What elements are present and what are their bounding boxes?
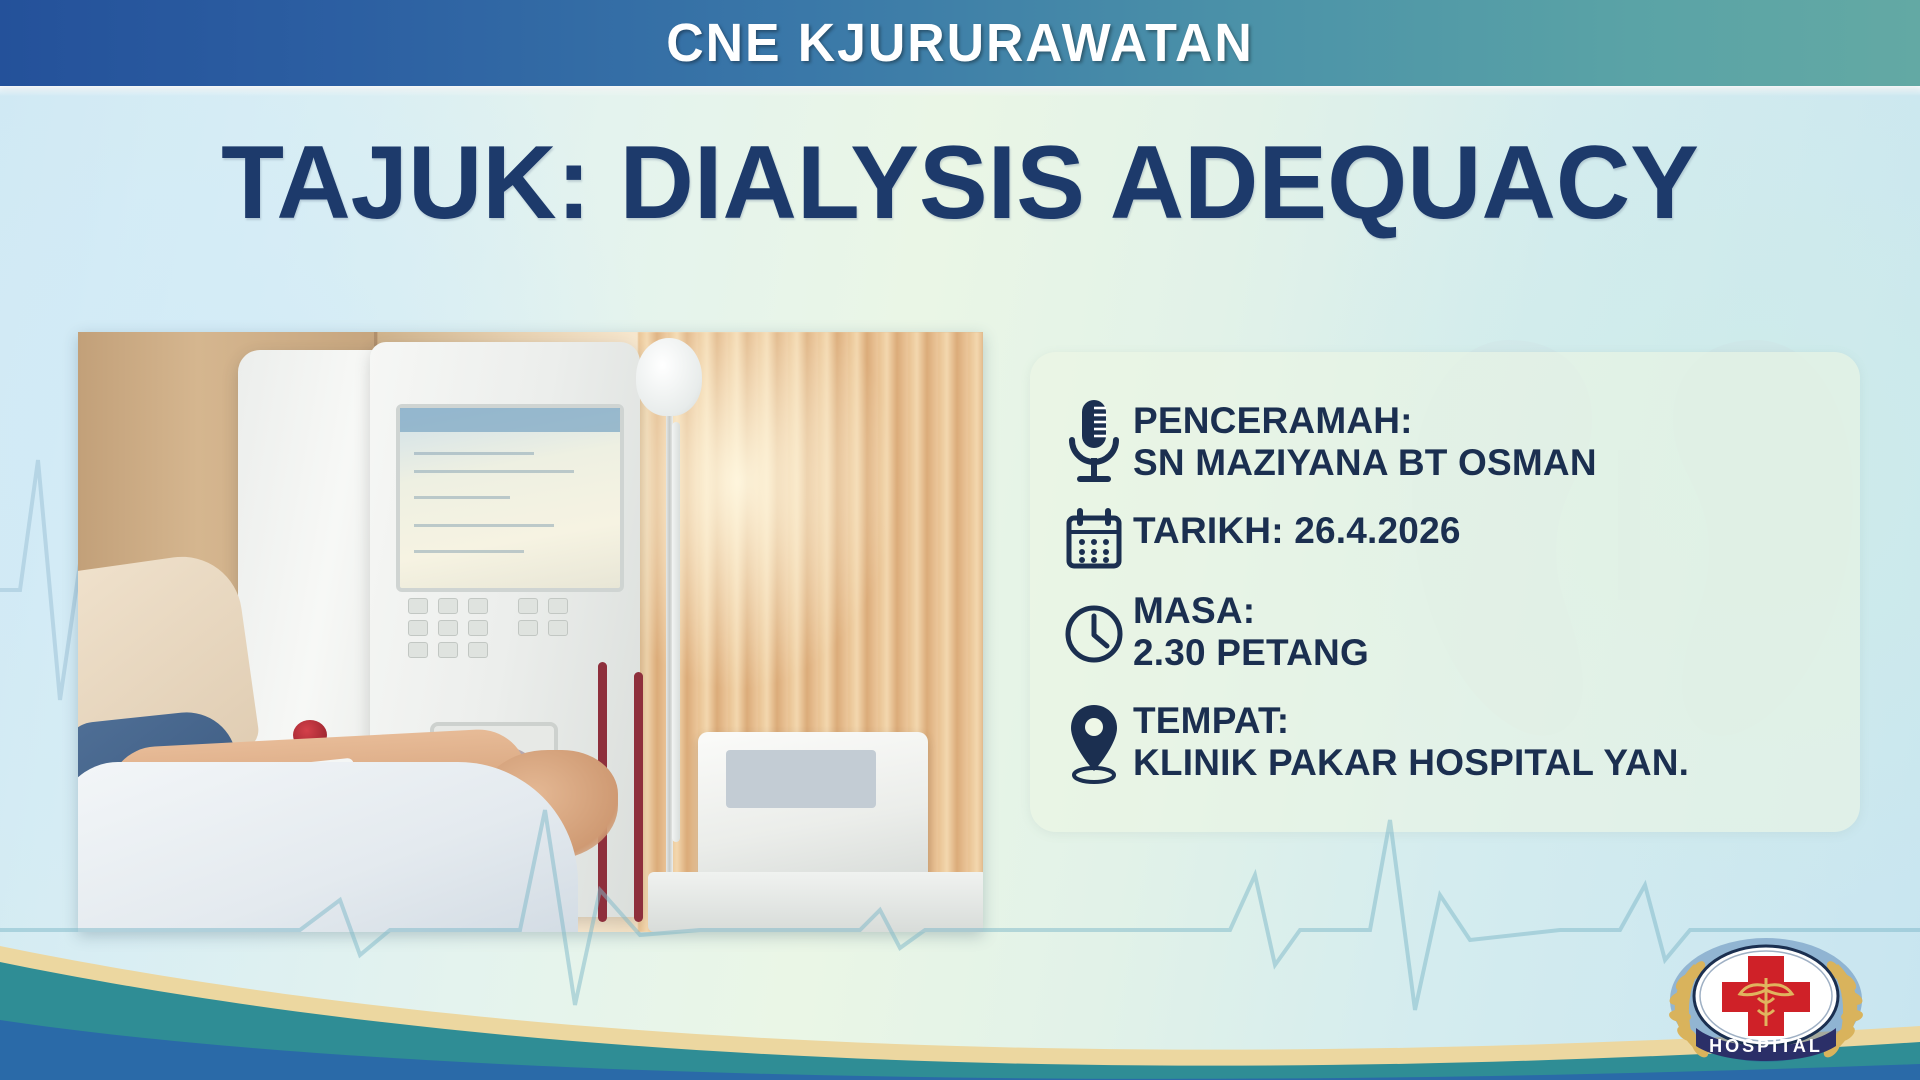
photo-screen-line	[414, 524, 554, 527]
detail-text-speaker: PENCERAMAH: SN MAZIYANA BT OSMAN	[1133, 392, 1597, 484]
header-band: CNE KJURURAWATAN	[0, 0, 1920, 86]
photo-screen-titlebar	[400, 408, 620, 432]
photo-screen-line	[414, 496, 510, 499]
calendar-icon	[1055, 502, 1133, 576]
bottom-wave-decoration	[0, 850, 1920, 1080]
detail-label-speaker: PENCERAMAH:	[1133, 400, 1597, 442]
detail-value-time: 2.30 PETANG	[1133, 632, 1369, 674]
clock-icon	[1055, 582, 1133, 686]
header-title: CNE KJURURAWATAN	[666, 12, 1254, 74]
details-list: PENCERAMAH: SN MAZIYANA BT OSMAN	[1055, 392, 1865, 802]
photo-iv-bag	[636, 338, 702, 416]
detail-label-date: TARIKH: 26.4.2026	[1133, 510, 1461, 552]
photo-screen-line	[414, 470, 574, 473]
photo-iv-line	[672, 422, 680, 842]
detail-value-speaker: SN MAZIYANA BT OSMAN	[1133, 442, 1597, 484]
detail-label-venue: TEMPAT:	[1133, 700, 1689, 742]
photo-screen-line	[414, 452, 534, 455]
emblem-text: HOSPITAL	[1709, 1036, 1823, 1056]
photo-machine-screen	[396, 404, 624, 592]
photo-machine-keypad	[408, 598, 598, 678]
detail-label-time: MASA:	[1133, 590, 1369, 632]
detail-row-speaker: PENCERAMAH: SN MAZIYANA BT OSMAN	[1055, 392, 1865, 496]
microphone-icon	[1055, 392, 1133, 496]
header-sheen	[0, 86, 1920, 96]
hospital-emblem-logo: HOSPITAL	[1656, 934, 1876, 1074]
detail-row-date: TARIKH: 26.4.2026	[1055, 502, 1865, 576]
detail-text-time: MASA: 2.30 PETANG	[1133, 582, 1369, 674]
poster-canvas: CNE KJURURAWATAN TAJUK: DIALYSIS ADEQUAC…	[0, 0, 1920, 1080]
photo-screen-line	[414, 550, 524, 553]
page-title: TAJUK: DIALYSIS ADEQUACY	[10, 128, 1911, 238]
detail-row-time: MASA: 2.30 PETANG	[1055, 582, 1865, 686]
detail-text-date: TARIKH: 26.4.2026	[1133, 502, 1461, 552]
detail-text-venue: TEMPAT: KLINIK PAKAR HOSPITAL YAN.	[1133, 692, 1689, 784]
detail-value-venue: KLINIK PAKAR HOSPITAL YAN.	[1133, 742, 1689, 784]
